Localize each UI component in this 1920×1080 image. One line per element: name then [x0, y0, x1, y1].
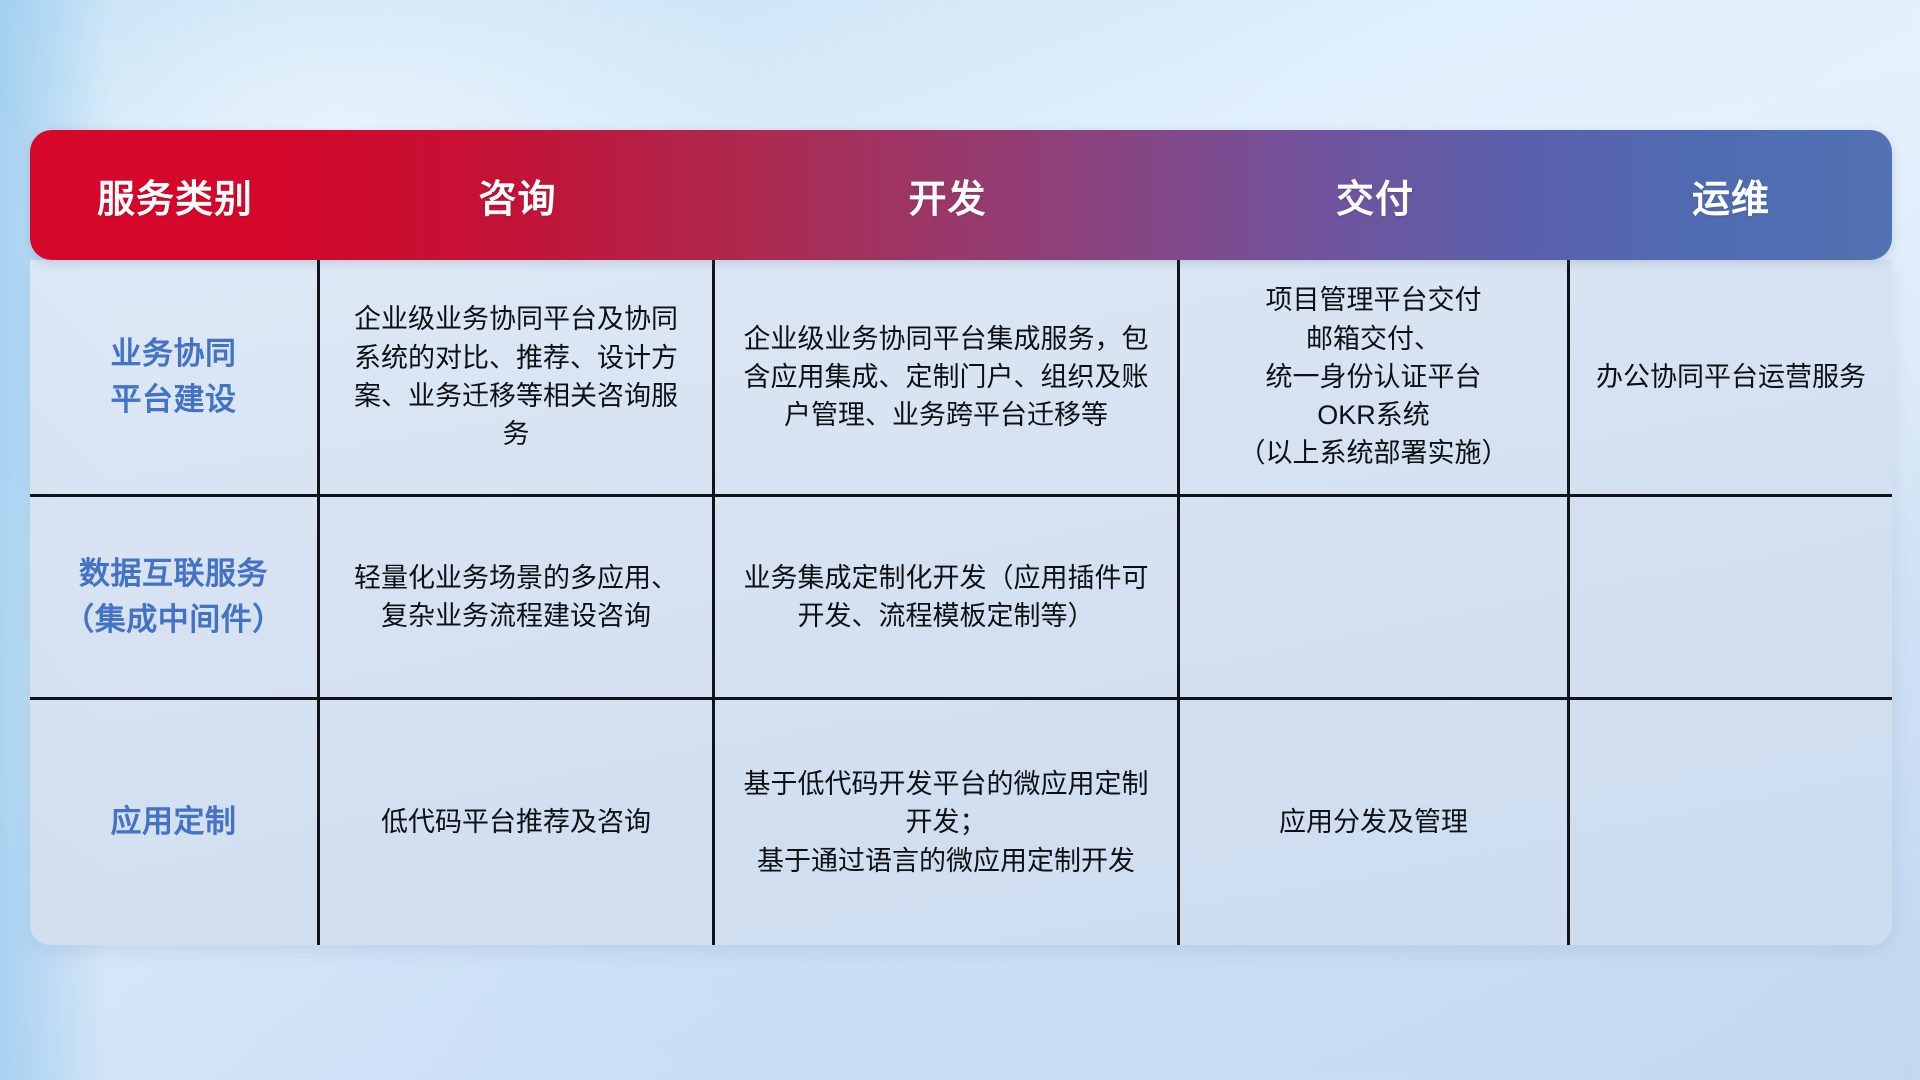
table-body: 业务协同 平台建设 企业级业务协同平台及协同系统的对比、推荐、设计方案、业务迁移…	[30, 260, 1892, 945]
cell-development: 企业级业务协同平台集成服务，包含应用集成、定制门户、组织及账户管理、业务跨平台迁…	[715, 260, 1180, 494]
cell-delivery: 项目管理平台交付 邮箱交付、 统一身份认证平台 OKR系统 （以上系统部署实施）	[1180, 260, 1570, 494]
table-header-row: 服务类别 咨询 开发 交付 运维	[30, 130, 1892, 260]
cell-delivery	[1180, 497, 1570, 697]
row-category-line-1: 业务协同	[111, 331, 237, 378]
column-header-delivery: 交付	[1180, 168, 1570, 223]
cell-operations	[1570, 497, 1892, 697]
column-header-development: 开发	[715, 168, 1180, 223]
row-category-line-1: 应用定制	[111, 799, 237, 846]
cell-development: 业务集成定制化开发（应用插件可开发、流程模板定制等）	[715, 497, 1180, 697]
service-matrix-table: 服务类别 咨询 开发 交付 运维 业务协同 平台建设 企业级业务协同平台及协同系…	[30, 130, 1892, 945]
row-category-cell: 应用定制	[30, 700, 320, 945]
row-category-cell: 业务协同 平台建设	[30, 260, 320, 494]
row-category-line-2: （集成中间件）	[63, 597, 284, 644]
row-category-line-2: 平台建设	[111, 377, 237, 424]
cell-consulting: 企业级业务协同平台及协同系统的对比、推荐、设计方案、业务迁移等相关咨询服务	[320, 260, 715, 494]
column-header-operations: 运维	[1570, 168, 1892, 223]
row-category-cell: 数据互联服务 （集成中间件）	[30, 497, 320, 697]
column-header-category: 服务类别	[30, 168, 320, 223]
column-header-consulting: 咨询	[320, 168, 715, 223]
cell-operations	[1570, 700, 1892, 945]
cell-consulting: 轻量化业务场景的多应用、复杂业务流程建设咨询	[320, 497, 715, 697]
table-row: 数据互联服务 （集成中间件） 轻量化业务场景的多应用、复杂业务流程建设咨询 业务…	[30, 494, 1892, 697]
cell-development: 基于低代码开发平台的微应用定制开发； 基于通过语言的微应用定制开发	[715, 700, 1180, 945]
cell-consulting: 低代码平台推荐及咨询	[320, 700, 715, 945]
cell-operations: 办公协同平台运营服务	[1570, 260, 1892, 494]
table-row: 业务协同 平台建设 企业级业务协同平台及协同系统的对比、推荐、设计方案、业务迁移…	[30, 260, 1892, 494]
row-category-line-1: 数据互联服务	[63, 551, 284, 598]
cell-delivery: 应用分发及管理	[1180, 700, 1570, 945]
table-row: 应用定制 低代码平台推荐及咨询 基于低代码开发平台的微应用定制开发； 基于通过语…	[30, 697, 1892, 945]
